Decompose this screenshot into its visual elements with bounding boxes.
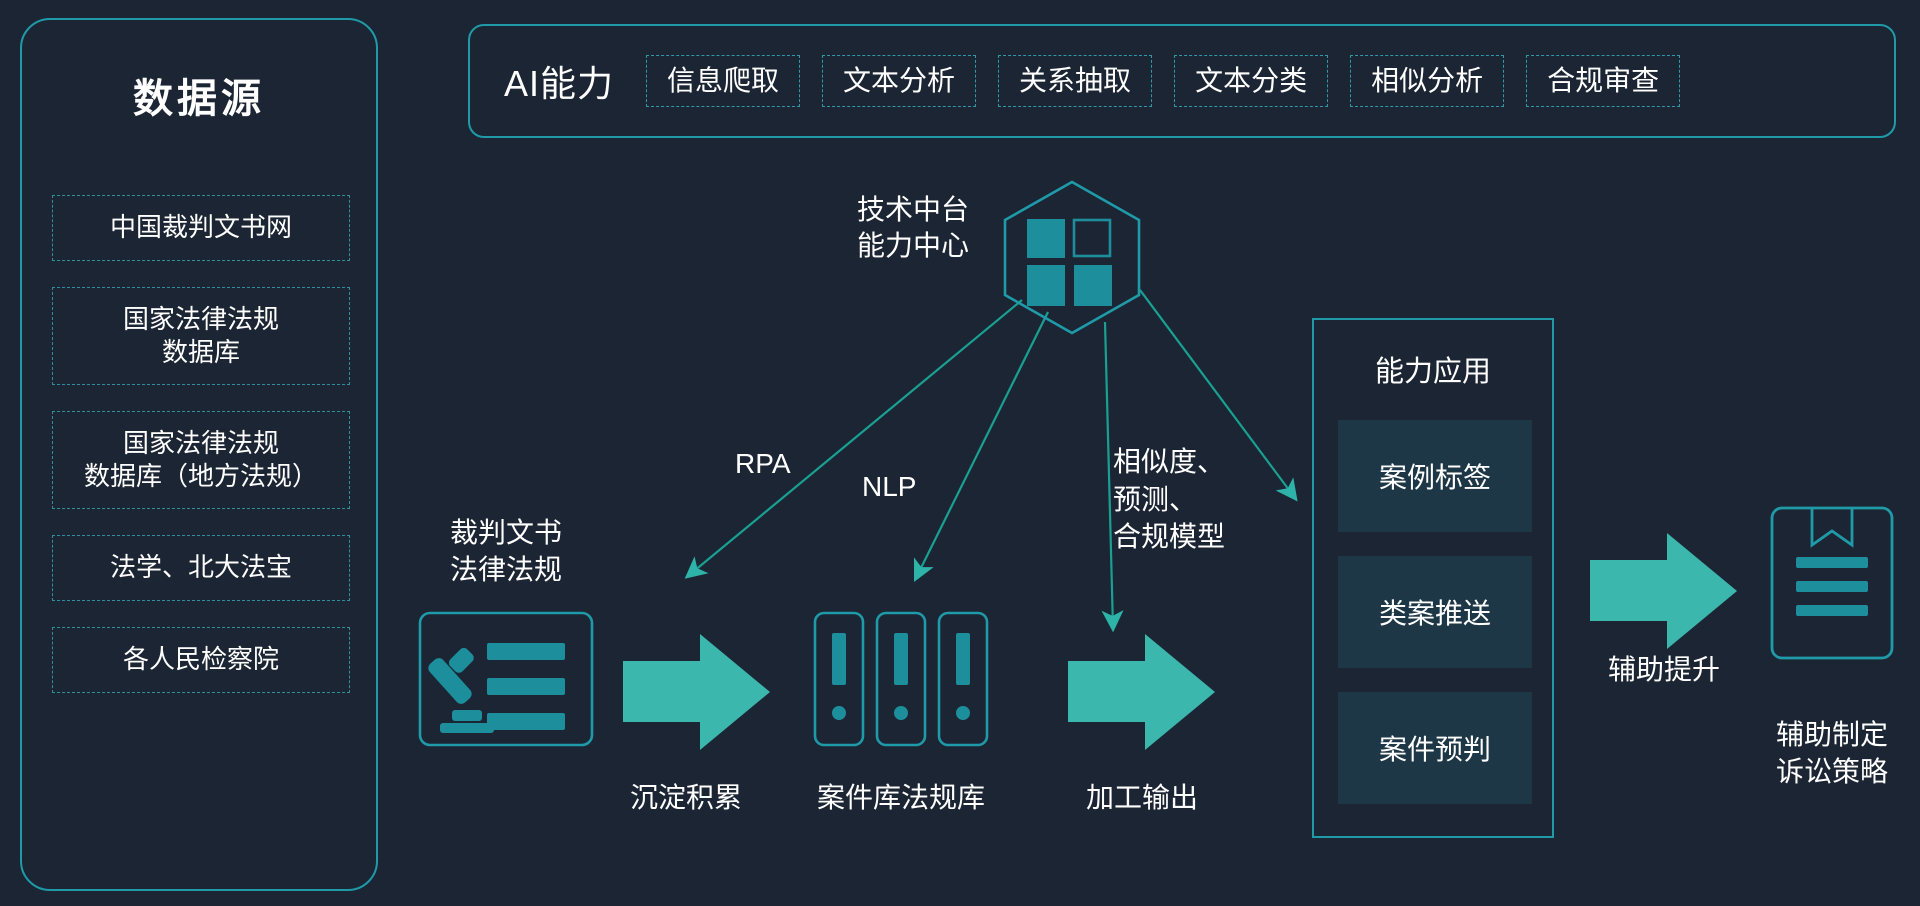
wire-model (1105, 322, 1113, 628)
book-node-caption: 辅助制定 诉讼策略 (1742, 717, 1920, 791)
data-source-item[interactable]: 中国裁判文书网 (52, 195, 350, 261)
hexagon-grid-icon (1005, 182, 1139, 333)
capability-application-box: 能力应用 案例标签 类案推送 案件预判 (1312, 318, 1554, 838)
arrow-label-output: 加工输出 (1056, 780, 1228, 817)
capability-box-title: 能力应用 (1314, 348, 1552, 390)
right-arrow-icon[interactable] (1068, 634, 1215, 750)
capability-card[interactable]: 案例标签 (1338, 420, 1532, 532)
arrow-label-assist: 辅助提升 (1578, 652, 1750, 689)
diagram-canvas: 数据源 中国裁判文书网 国家法律法规 数据库 国家法律法规 数据库（地方法规） … (0, 0, 1920, 906)
data-source-item[interactable]: 法学、北大法宝 (52, 535, 350, 601)
ai-capability-tag[interactable]: 相似分析 (1350, 55, 1504, 108)
gavel-document-icon (420, 613, 592, 745)
ai-capability-tag[interactable]: 文本分析 (822, 55, 976, 108)
data-source-panel: 数据源 中国裁判文书网 国家法律法规 数据库 国家法律法规 数据库（地方法规） … (20, 18, 378, 891)
capability-card[interactable]: 类案推送 (1338, 556, 1532, 668)
ai-capability-tag[interactable]: 文本分类 (1174, 55, 1328, 108)
ai-capability-tag[interactable]: 关系抽取 (998, 55, 1152, 108)
data-source-item[interactable]: 国家法律法规 数据库（地方法规） (52, 411, 350, 509)
right-arrow-icon[interactable] (1590, 533, 1737, 649)
server-node-caption: 案件库法规库 (780, 780, 1022, 817)
ai-capability-tag-list: 信息爬取 文本分析 关系抽取 文本分类 相似分析 合规审查 (646, 55, 1680, 108)
ai-capability-bar: AI能力 信息爬取 文本分析 关系抽取 文本分类 相似分析 合规审查 (468, 24, 1896, 138)
wire-nlp (916, 312, 1048, 578)
capability-card-list: 案例标签 类案推送 案件预判 (1338, 420, 1532, 828)
data-source-item[interactable]: 各人民检察院 (52, 627, 350, 693)
wire-label-nlp: NLP (862, 468, 916, 506)
server-rack-icon (815, 613, 987, 745)
right-arrow-icon[interactable] (623, 634, 770, 750)
wire-label-model: 相似度、 预测、 合规模型 (1113, 443, 1225, 556)
bookmark-document-icon (1772, 508, 1892, 658)
ai-capability-tag[interactable]: 合规审查 (1526, 55, 1680, 108)
wire-rpa (688, 300, 1022, 576)
data-source-title: 数据源 (22, 66, 376, 124)
wire-label-rpa: RPA (735, 445, 791, 483)
doc-node-caption: 裁判文书 法律法规 (420, 515, 592, 589)
data-source-item[interactable]: 国家法律法规 数据库 (52, 287, 350, 385)
capability-card[interactable]: 案件预判 (1338, 692, 1532, 804)
ai-capability-title: AI能力 (504, 55, 614, 107)
hub-label: 技术中台 能力中心 (828, 192, 998, 265)
data-source-list: 中国裁判文书网 国家法律法规 数据库 国家法律法规 数据库（地方法规） 法学、北… (52, 195, 350, 719)
ai-capability-tag[interactable]: 信息爬取 (646, 55, 800, 108)
arrow-label-accumulate: 沉淀积累 (600, 780, 772, 817)
